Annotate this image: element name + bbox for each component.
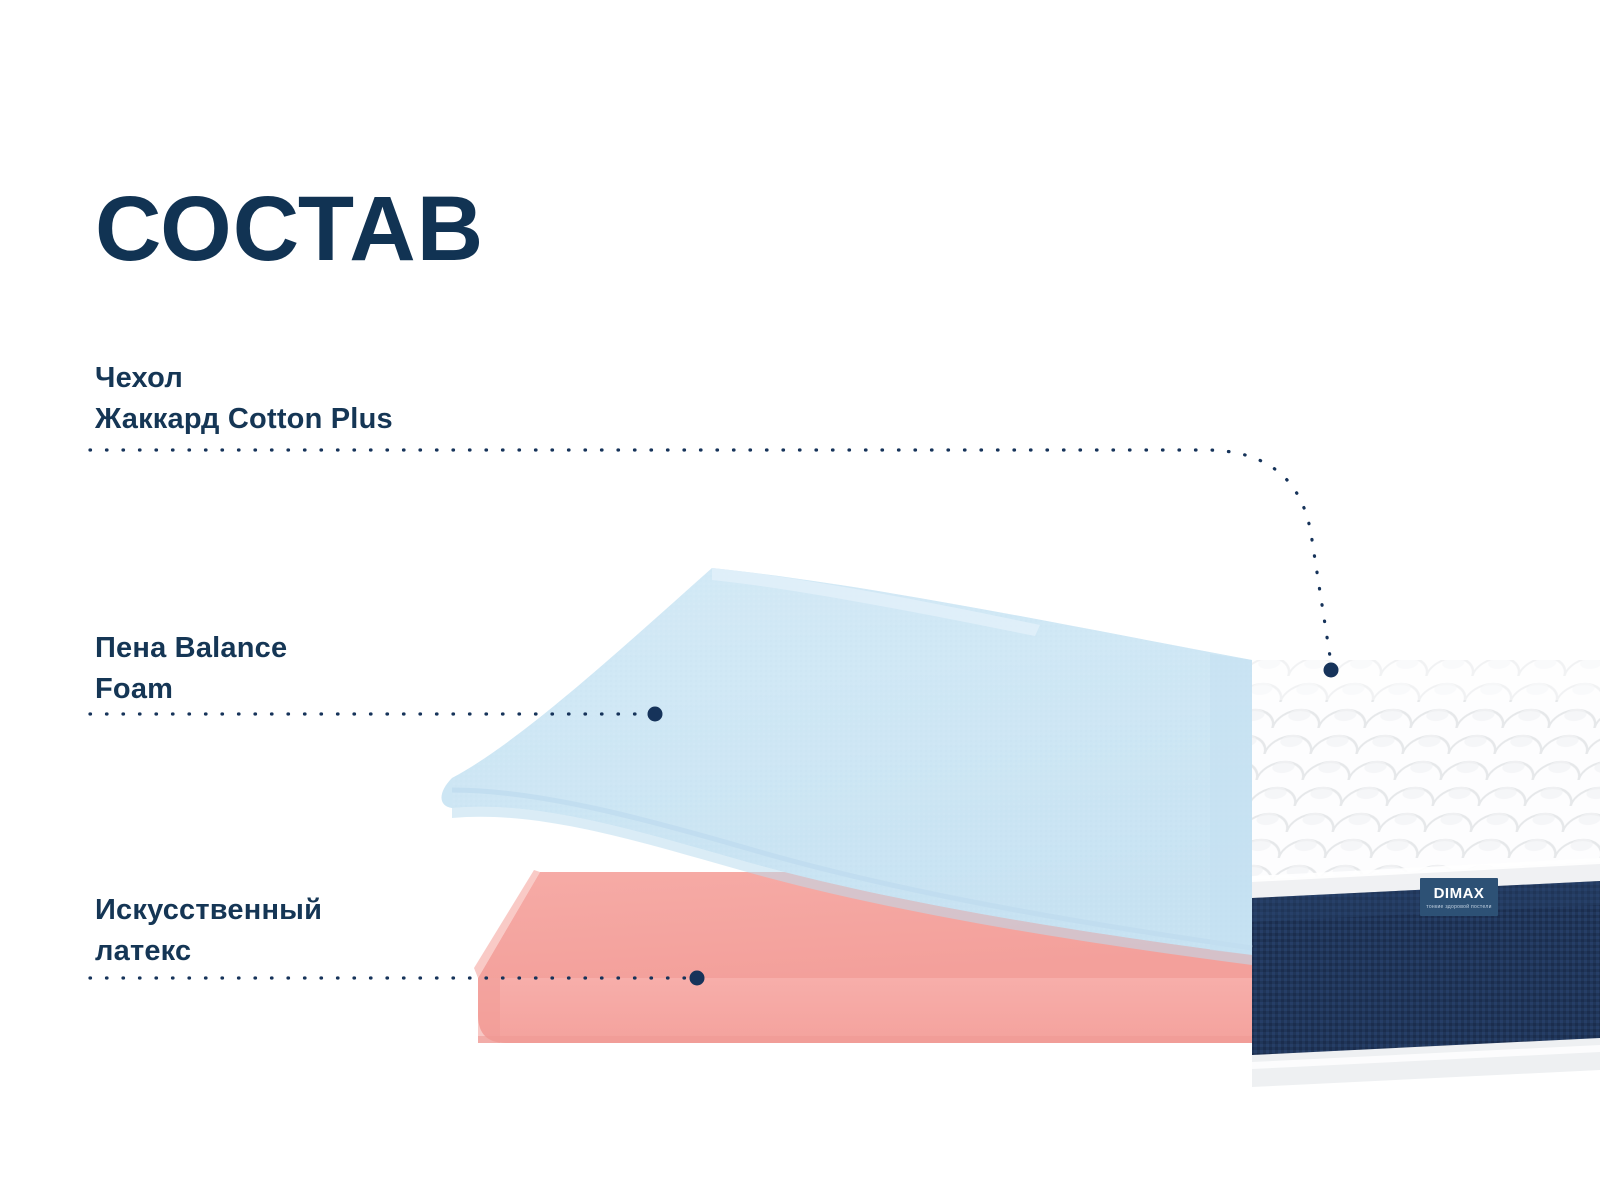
leader-endpoint-foam (648, 707, 663, 722)
dimax-brand-patch: DIMAX тонкие здоровой постели (1420, 878, 1498, 916)
dimax-brand-text: DIMAX (1434, 885, 1485, 902)
leader-endpoint-latex (690, 971, 705, 986)
layer-label-latex: Искусственный латекс (95, 890, 322, 972)
page-title: СОСТАВ (95, 183, 484, 275)
dimax-tagline-text: тонкие здоровой постели (1426, 903, 1491, 910)
layer-label-foam: Пена Balance Foam (95, 628, 287, 710)
layer-label-cover: Чехол Жаккард Cotton Plus (95, 358, 393, 440)
leader-endpoint-cover (1324, 663, 1339, 678)
composition-slide: DIMAX тонкие здоровой постели (0, 0, 1600, 1200)
